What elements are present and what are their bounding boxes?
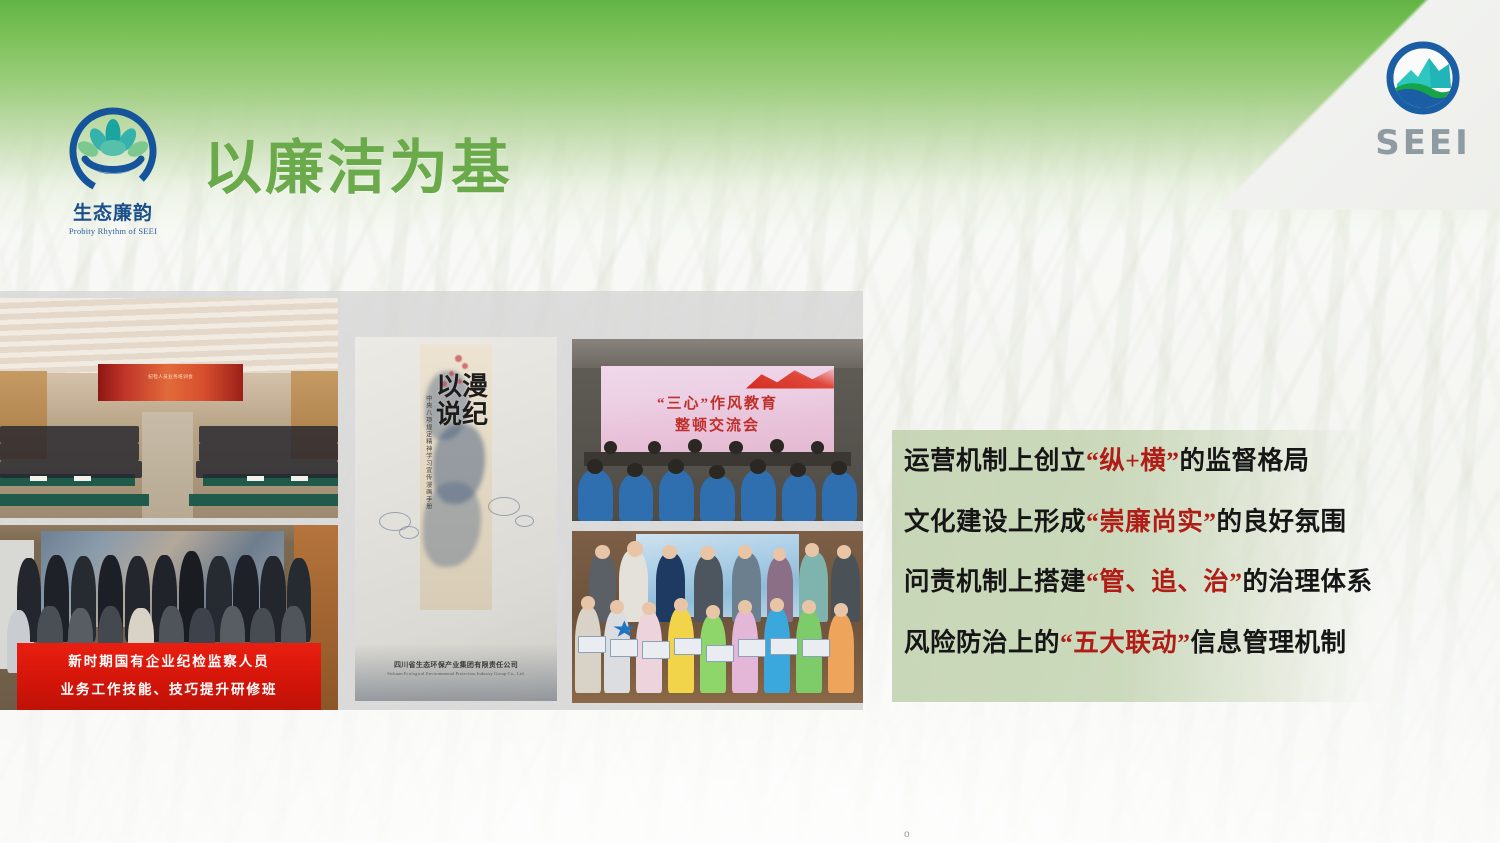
meeting-screen-line-1: “三心”作风教育 [601, 392, 834, 413]
comic-discipline-poster: 中央八项规定精神学习宣传漫画手册 以漫说纪 四川省生态环保产业集团有限责任公司 … [355, 337, 557, 701]
key-point-line: 文化建设上形成“崇廉尚实”的良好氛围 [904, 509, 1424, 535]
poster-title-main: 以漫说纪 [436, 372, 488, 429]
key-point-prefix: 文化建设上形成 [904, 507, 1086, 536]
key-point-line: 运营机制上创立“纵+横”的监督格局 [904, 448, 1424, 474]
key-point-highlight: “纵+横” [1086, 446, 1180, 475]
key-point-line: 风险防治上的“五大联动”信息管理机制 [904, 630, 1424, 656]
children-gift-event-photo [572, 531, 863, 703]
key-point-highlight: “管、追、治” [1086, 567, 1243, 596]
seei-mountain-wave-circle-icon [1368, 36, 1478, 125]
key-point-highlight: “崇廉尚实” [1086, 507, 1217, 536]
lotus-in-hand-circle-icon [61, 104, 165, 202]
conference-hall-photo: 纪检人员业务培训会 [0, 298, 338, 518]
poster-footer-cn: 四川省生态环保产业集团有限责任公司 [355, 660, 557, 670]
brand-logo: 生态廉韵 Probity Rhythm of SEEI [57, 104, 169, 244]
brand-name-cn: 生态廉韵 [57, 198, 169, 225]
corporate-logo: SEEI [1368, 36, 1478, 148]
group-photo-banner: 新时期国有企业纪检监察人员 业务工作技能、技巧提升研修班 [0, 525, 338, 710]
key-point-suffix: 的监督格局 [1180, 446, 1310, 475]
seei-wordmark: SEEI [1368, 123, 1478, 163]
key-points-list: 运营机制上创立“纵+横”的监督格局 文化建设上形成“崇廉尚实”的良好氛围 问责机… [904, 448, 1424, 690]
key-point-prefix: 运营机制上创立 [904, 446, 1086, 475]
hall-screen-caption: 纪检人员业务培训会 [98, 374, 243, 380]
key-point-highlight: “五大联动” [1060, 628, 1191, 657]
poster-title: 以漫说纪 [436, 373, 489, 429]
poster-side-text: 中央八项规定精神学习宣传漫画手册 [414, 395, 432, 510]
banner-line-2: 业务工作技能、技巧提升研修班 [17, 678, 321, 698]
poster-footer: 四川省生态环保产业集团有限责任公司 Sichuan Ecological Env… [355, 660, 557, 676]
meeting-screen-line-2: 整顿交流会 [601, 414, 834, 435]
page-marker: o [904, 829, 910, 840]
brand-name-en: Probity Rhythm of SEEI [57, 226, 169, 236]
slide-canvas: 生态廉韵 Probity Rhythm of SEEI 以廉洁为基 SEEI [0, 0, 1500, 843]
key-point-suffix: 信息管理机制 [1191, 628, 1347, 657]
three-hearts-meeting-photo: “三心”作风教育 整顿交流会 [572, 339, 863, 521]
key-point-prefix: 问责机制上搭建 [904, 567, 1086, 596]
key-point-line: 问责机制上搭建“管、追、治”的治理体系 [904, 569, 1424, 595]
key-point-suffix: 的治理体系 [1243, 567, 1373, 596]
key-point-suffix: 的良好氛围 [1217, 507, 1347, 536]
red-banner: 新时期国有企业纪检监察人员 业务工作技能、技巧提升研修班 [17, 643, 321, 710]
page-title: 以廉洁为基 [203, 120, 513, 205]
banner-line-1: 新时期国有企业纪检监察人员 [17, 650, 321, 670]
key-point-prefix: 风险防治上的 [904, 628, 1060, 657]
poster-footer-en: Sichuan Ecological Environmental Protect… [355, 671, 557, 676]
photo-collage: 纪检人员业务培训会 [0, 291, 863, 710]
